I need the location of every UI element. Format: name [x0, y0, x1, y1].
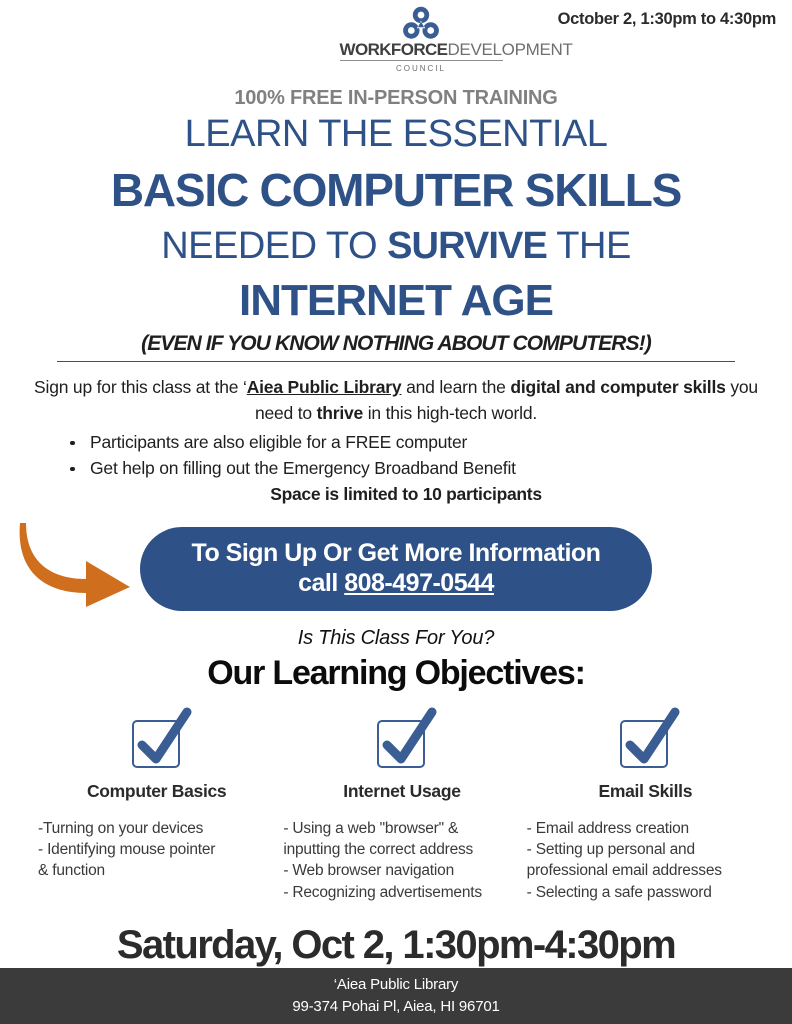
checkbox-checked-icon	[38, 707, 275, 773]
objective-column-email-skills: Email Skills - Email address creation - …	[521, 707, 764, 904]
objective-body: - Using a web "browser" & inputting the …	[283, 818, 520, 904]
flyer-page: WORKFORCEDEVELOPMENT COUNCIL October 2, …	[0, 0, 792, 1024]
hero-section: 100% FREE IN-PERSON TRAINING LEARN THE E…	[0, 87, 792, 362]
objective-item: - Recognizing advertisements	[283, 882, 520, 903]
hero-line-1: LEARN THE ESSENTIAL	[26, 112, 766, 156]
objective-item: - Using a web "browser" &	[283, 818, 520, 839]
objectives-question: Is This Class For You?	[0, 627, 792, 650]
objective-column-computer-basics: Computer Basics -Turning on your devices…	[28, 707, 275, 904]
hero-line-3-pre: NEEDED TO	[161, 225, 387, 267]
objective-item: inputting the correct address	[283, 839, 520, 860]
intro-part-2: and learn the	[401, 377, 510, 397]
objective-item: & function	[38, 860, 275, 881]
body-copy: Sign up for this class at the ‘Aiea Publ…	[0, 374, 792, 505]
curved-arrow-right-icon	[18, 517, 138, 607]
hero-divider	[57, 361, 735, 362]
objective-column-internet-usage: Internet Usage - Using a web "browser" &…	[275, 707, 520, 904]
objective-item: professional email addresses	[527, 860, 764, 881]
hero-line-3-post: THE	[547, 225, 631, 267]
checkbox-checked-icon	[527, 707, 764, 773]
objective-heading: Email Skills	[527, 781, 764, 802]
objective-item: - Email address creation	[527, 818, 764, 839]
hero-kicker: 100% FREE IN-PERSON TRAINING	[26, 87, 766, 110]
header-date-badge: October 2, 1:30pm to 4:30pm	[558, 10, 776, 29]
objectives-section: Is This Class For You? Our Learning Obje…	[0, 627, 792, 904]
objectives-columns: Computer Basics -Turning on your devices…	[0, 707, 792, 904]
logo-wordmark: WORKFORCEDEVELOPMENT	[340, 41, 503, 61]
logo-word-workforce: WORKFORCE	[340, 40, 448, 59]
cta-line-1: To Sign Up Or Get More Information	[192, 539, 601, 569]
objective-item: - Setting up personal and	[527, 839, 764, 860]
hero-line-2: BASIC COMPUTER SKILLS	[26, 162, 766, 218]
objective-item: - Identifying mouse pointer	[38, 839, 275, 860]
flyer-footer: ‘Aiea Public Library 99-374 Pohai Pl, Ai…	[0, 968, 792, 1024]
benefits-list: Participants are also eligible for a FRE…	[22, 430, 770, 482]
hero-line-3: NEEDED TO SURVIVE THE	[26, 224, 766, 270]
intro-part-1: Sign up for this class at the ‘	[34, 377, 247, 397]
objective-item: - Web browser navigation	[283, 860, 520, 881]
footer-address: 99-374 Pohai Pl, Aiea, HI 96701	[292, 996, 499, 1018]
list-item: Get help on filling out the Emergency Br…	[68, 456, 770, 482]
cta-phone-number[interactable]: 808-497-0544	[344, 569, 494, 597]
flyer-header: WORKFORCEDEVELOPMENT COUNCIL October 2, …	[0, 0, 792, 82]
intro-paragraph: Sign up for this class at the ‘Aiea Publ…	[22, 374, 770, 427]
event-date-headline: Saturday, Oct 2, 1:30pm-4:30pm	[0, 923, 792, 968]
logo-word-development: DEVELOPMENT	[447, 40, 572, 59]
cta-section: To Sign Up Or Get More Information call …	[0, 515, 792, 625]
hero-italic-note: (EVEN IF YOU KNOW NOTHING ABOUT COMPUTER…	[26, 332, 766, 356]
workforce-development-council-logo: WORKFORCEDEVELOPMENT COUNCIL	[332, 6, 510, 73]
signup-cta-button[interactable]: To Sign Up Or Get More Information call …	[140, 527, 652, 611]
cta-line-2: call 808-497-0544	[298, 569, 494, 599]
objective-body: - Email address creation - Setting up pe…	[527, 818, 764, 904]
objective-heading: Internet Usage	[283, 781, 520, 802]
intro-part-4: in this high-tech world.	[363, 403, 537, 423]
objective-item: - Selecting a safe password	[527, 882, 764, 903]
footer-venue: ‘Aiea Public Library	[334, 974, 458, 996]
objective-body: -Turning on your devices - Identifying m…	[38, 818, 275, 882]
logo-word-council: COUNCIL	[332, 64, 510, 73]
objectives-title: Our Learning Objectives:	[0, 654, 792, 693]
intro-bold-1: digital and computer skills	[510, 377, 725, 397]
library-link[interactable]: Aiea Public Library	[247, 377, 402, 397]
cta-call-label: call	[298, 569, 344, 597]
trefoil-logo-icon	[401, 6, 441, 40]
intro-bold-2: thrive	[317, 403, 363, 423]
hero-line-4: INTERNET AGE	[26, 275, 766, 328]
objective-item: -Turning on your devices	[38, 818, 275, 839]
hero-line-3-emphasis: SURVIVE	[387, 225, 547, 267]
space-limit-note: Space is limited to 10 participants	[22, 484, 770, 505]
checkbox-checked-icon	[283, 707, 520, 773]
list-item: Participants are also eligible for a FRE…	[68, 430, 770, 456]
objective-heading: Computer Basics	[38, 781, 275, 802]
